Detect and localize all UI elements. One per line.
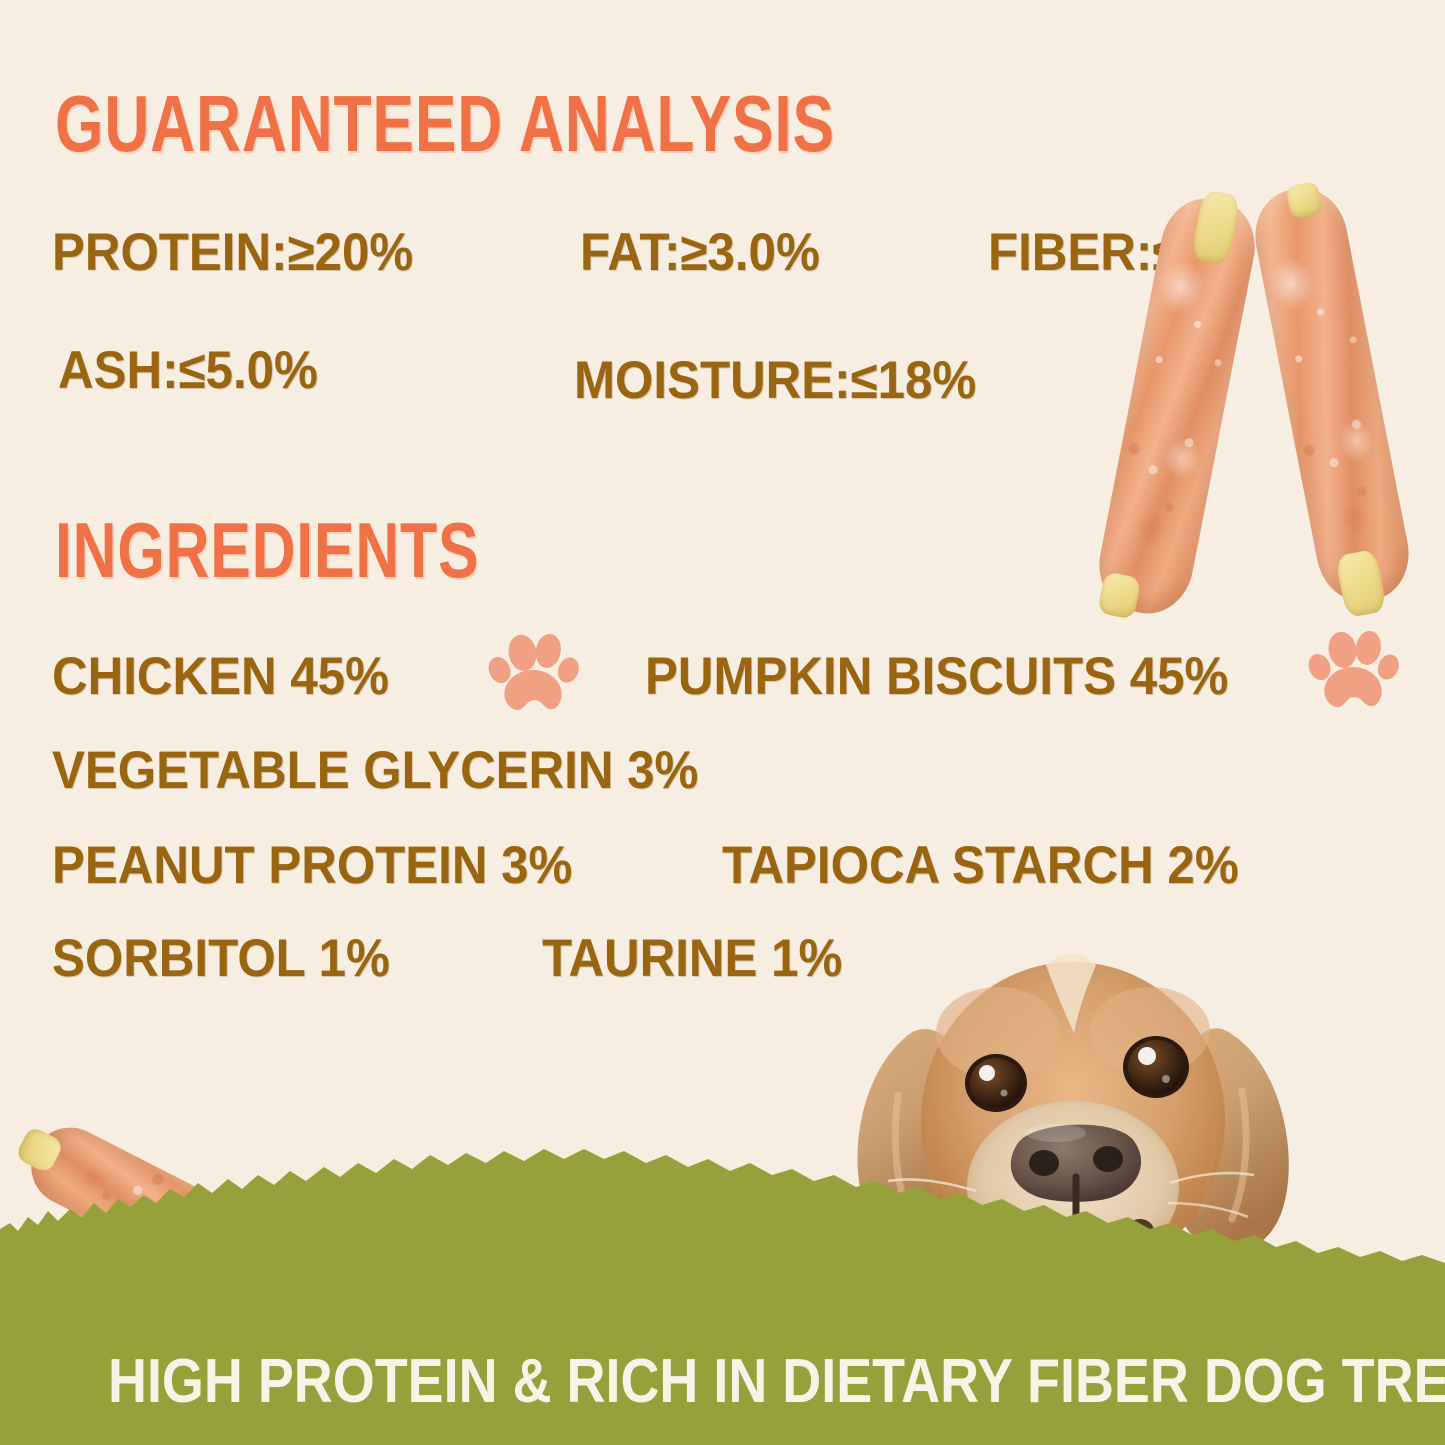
ingredient-tapioca-starch: TAPIOCA STARCH 2%	[722, 835, 1239, 896]
ingredient-sorbitol: SORBITOL 1%	[52, 928, 390, 989]
spec-fat: FAT:≥3.0%	[580, 222, 820, 283]
banner-tagline-text: HIGH PROTEIN & RICH IN DIETARY FIBER DOG…	[108, 1346, 1445, 1417]
product-infographic: GUARANTEED ANALYSIS PROTEIN:≥20% FAT:≥3.…	[0, 0, 1445, 1445]
spec-moisture: MOISTURE:≤18%	[574, 350, 976, 411]
ingredient-vegetable-glycerin: VEGETABLE GLYCERIN 3%	[52, 740, 698, 801]
ingredient-chicken: CHICKEN 45%	[52, 646, 389, 707]
ingredients-heading: INGREDIENTS	[55, 505, 479, 596]
ingredient-taurine: TAURINE 1%	[542, 928, 842, 989]
paw-print-icon	[485, 628, 581, 714]
treat-stick-image	[1247, 181, 1417, 609]
banner-tagline: HIGH PROTEIN & RICH IN DIETARY FIBER DOG…	[0, 1346, 1445, 1417]
spec-protein: PROTEIN:≥20%	[52, 222, 413, 283]
paw-print-icon	[1305, 625, 1401, 711]
ingredient-pumpkin-biscuits: PUMPKIN BISCUITS 45%	[645, 646, 1228, 707]
ingredient-peanut-protein: PEANUT PROTEIN 3%	[52, 835, 572, 896]
guaranteed-analysis-heading: GUARANTEED ANALYSIS	[55, 78, 835, 170]
spec-ash: ASH:≤5.0%	[58, 340, 318, 401]
